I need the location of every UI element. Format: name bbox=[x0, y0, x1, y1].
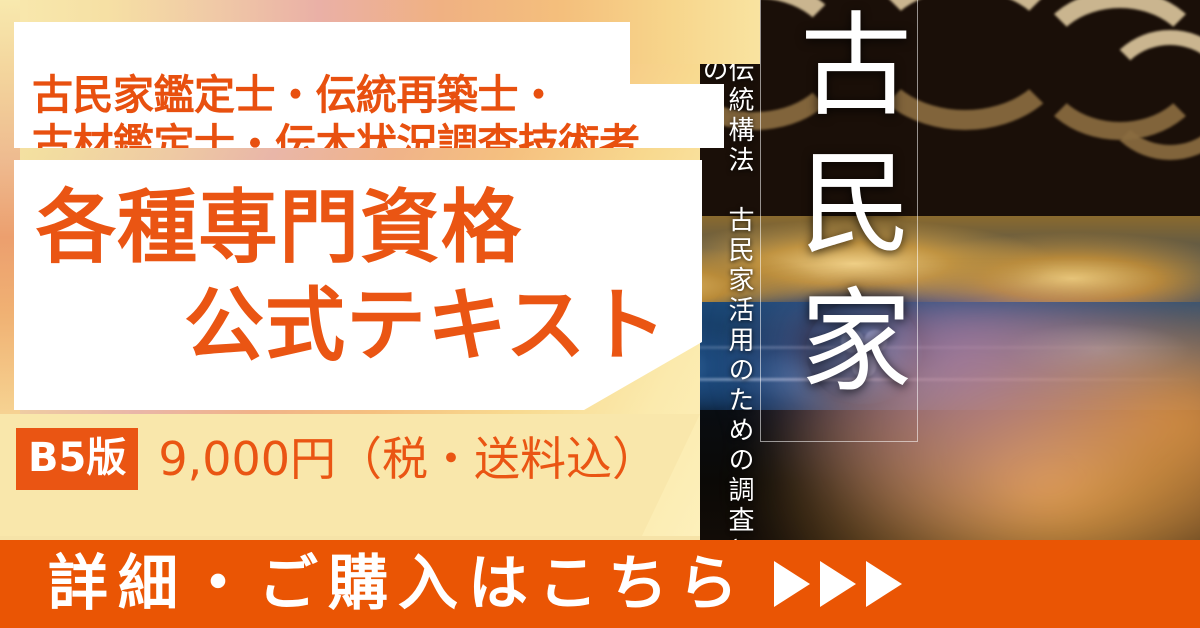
qualifications-card: 古民家鑑定士・伝統再築士・ 古材鑑定士・伝木状況調査技術者 bbox=[14, 22, 724, 148]
cta-label: 詳細・ご購入はこちら bbox=[48, 554, 748, 614]
main-headline-line-1: 各種専門資格 bbox=[36, 188, 522, 268]
price-row: B5版 9,000円（税・送料込） bbox=[16, 428, 658, 490]
price-amount: 9,000円（税・送料込） bbox=[158, 436, 658, 482]
triangle-right-icon bbox=[774, 561, 810, 607]
triangle-right-icon bbox=[866, 561, 902, 607]
main-headline-card: 各種専門資格 公式テキスト bbox=[14, 160, 702, 410]
promo-banner: 古民家 伝統構法 古民家活用のための調査と再生の 古民家鑑定士・伝統再築士・ 古… bbox=[0, 0, 1200, 628]
cover-title-vertical: 古民家 bbox=[790, 6, 902, 420]
main-headline-line-2: 公式テキスト bbox=[184, 286, 668, 366]
size-badge: B5版 bbox=[16, 428, 138, 490]
cta-bar[interactable]: 詳細・ご購入はこちら bbox=[0, 540, 1200, 628]
cta-arrow-group bbox=[774, 561, 902, 607]
triangle-right-icon bbox=[820, 561, 856, 607]
